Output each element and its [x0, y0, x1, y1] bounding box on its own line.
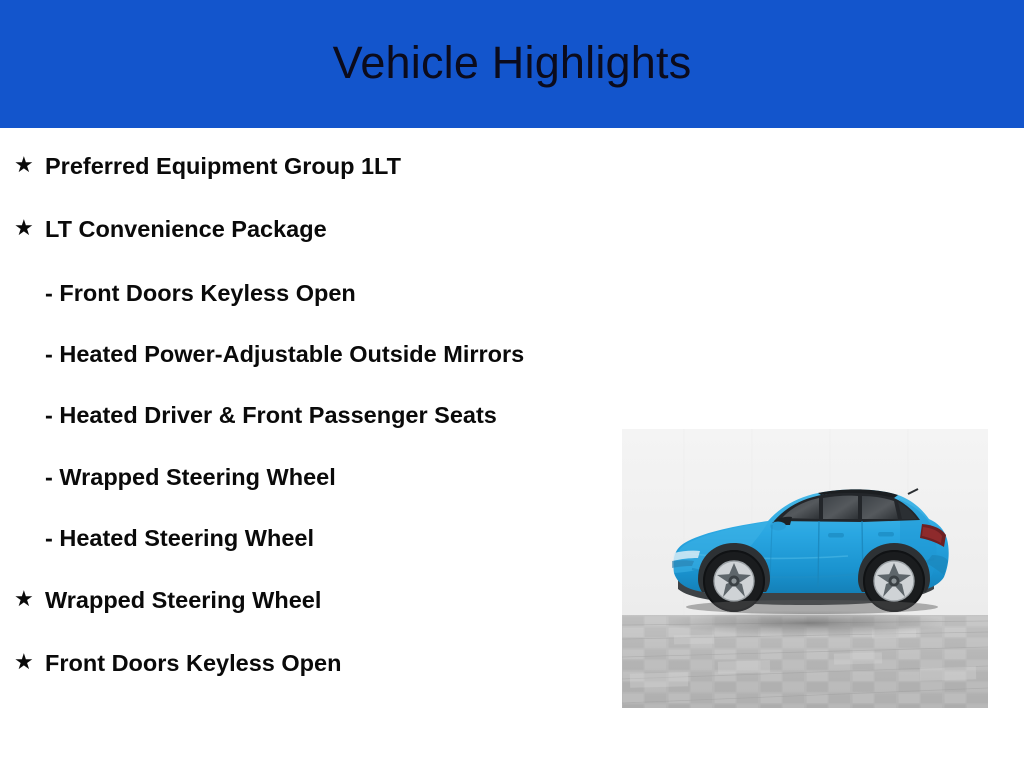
header-bar: Vehicle Highlights: [0, 0, 1024, 128]
list-item: ★LT Convenience Package: [0, 213, 600, 246]
sub-list-item: - Heated Power-Adjustable Outside Mirror…: [0, 338, 600, 371]
star-bullet-icon: ★: [14, 150, 45, 181]
list-item: ★Wrapped Steering Wheel: [0, 584, 600, 617]
list-item-label: Wrapped Steering Wheel: [45, 584, 590, 617]
list-item-label: Front Doors Keyless Open: [45, 647, 590, 680]
list-item-label: LT Convenience Package: [45, 213, 590, 246]
list-item-label: - Heated Power-Adjustable Outside Mirror…: [45, 338, 545, 371]
star-bullet-icon: ★: [14, 213, 45, 244]
vehicle-photo-image: [622, 429, 988, 708]
star-bullet-icon: ★: [14, 584, 45, 615]
vehicle-highlights-slide: Vehicle Highlights ★Preferred Equipment …: [0, 0, 1024, 768]
highlights-list: ★Preferred Equipment Group 1LT★LT Conven…: [0, 128, 600, 710]
sub-list-item: - Heated Steering Wheel: [0, 522, 600, 555]
list-item-label: - Heated Driver & Front Passenger Seats: [45, 399, 545, 432]
list-item: ★Preferred Equipment Group 1LT: [0, 150, 600, 183]
sub-list-item: - Heated Driver & Front Passenger Seats: [0, 399, 600, 432]
star-bullet-icon: ★: [14, 647, 45, 678]
sub-list-item: - Front Doors Keyless Open: [0, 277, 600, 310]
page-title: Vehicle Highlights: [333, 40, 692, 85]
list-item-label: - Wrapped Steering Wheel: [45, 461, 545, 494]
content-area: ★Preferred Equipment Group 1LT★LT Conven…: [0, 128, 1024, 768]
list-item-label: - Front Doors Keyless Open: [45, 277, 545, 310]
list-item-label: Preferred Equipment Group 1LT: [45, 150, 590, 183]
list-item-label: - Heated Steering Wheel: [45, 522, 545, 555]
sub-list-item: - Wrapped Steering Wheel: [0, 461, 600, 494]
list-item: ★Front Doors Keyless Open: [0, 647, 600, 680]
vehicle-photo[interactable]: [622, 429, 988, 708]
